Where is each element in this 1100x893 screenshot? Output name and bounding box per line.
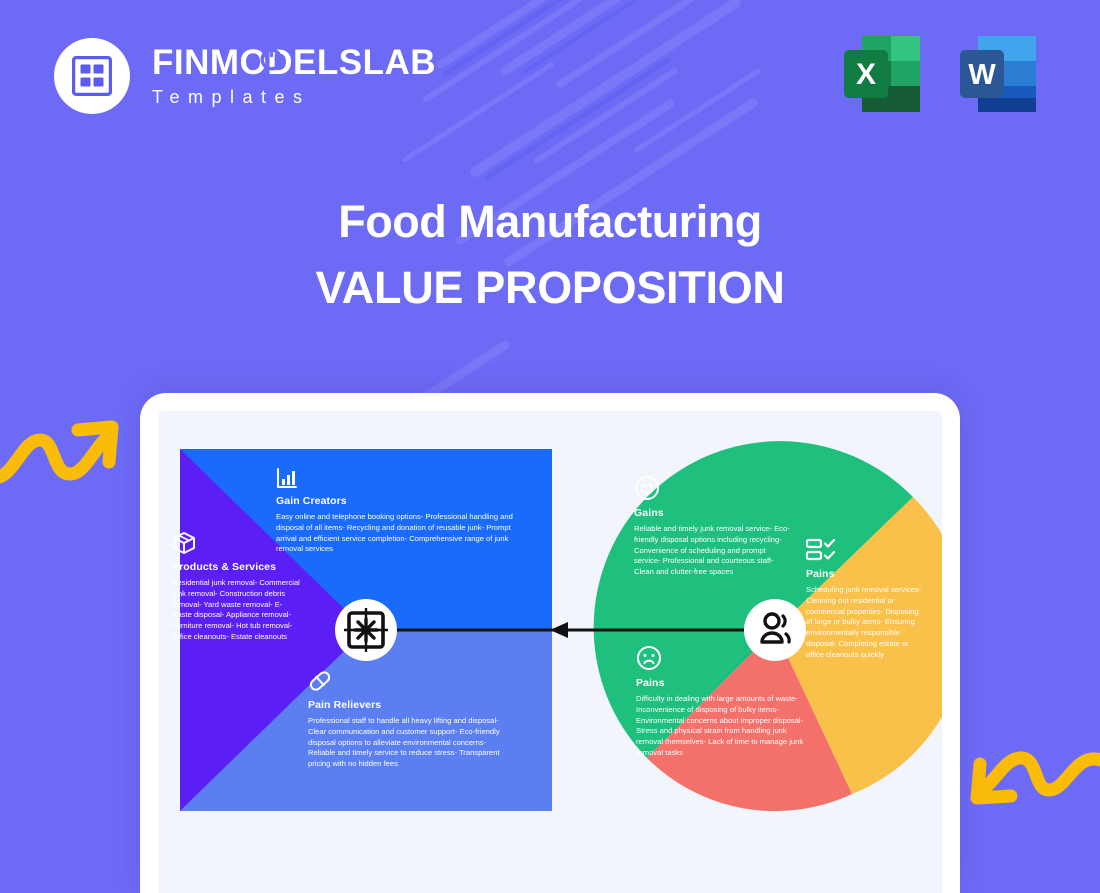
- segment-body: Professional staff to handle all heavy l…: [308, 716, 504, 770]
- segment-heading: Pains: [636, 677, 808, 689]
- segment-heading: Gain Creators: [276, 495, 516, 507]
- svg-text:X: X: [856, 58, 876, 91]
- title-line-1: Food Manufacturing: [0, 196, 1100, 248]
- segment-body: Scheduling junk removal services- Cleani…: [806, 585, 926, 660]
- checklist-icon: [806, 538, 836, 562]
- page-header: FINMODELSLAB Templates X: [0, 0, 1100, 150]
- logo-title: FINMODELSLAB: [152, 45, 436, 80]
- logo-power-ring-icon: [259, 46, 284, 71]
- segment-body: Reliable and timely junk removal service…: [634, 524, 794, 578]
- squiggle-arrow-down-left-icon: [955, 748, 1100, 842]
- device-screen: Gain Creators Easy online and telephone …: [158, 411, 942, 893]
- segment-pains[interactable]: Pains Difficulty in dealing with large a…: [636, 645, 808, 759]
- pill-icon: [308, 669, 332, 693]
- page-title: Food Manufacturing VALUE PROPOSITION: [0, 196, 1100, 314]
- box-icon: [172, 531, 196, 555]
- device-frame: Gain Creators Easy online and telephone …: [140, 393, 960, 893]
- segment-customer-jobs[interactable]: Pains Scheduling junk removal services- …: [806, 538, 926, 660]
- title-line-2: VALUE PROPOSITION: [0, 262, 1100, 314]
- squiggle-arrow-up-right-icon: [0, 400, 122, 495]
- grid-squares-icon: [72, 56, 112, 96]
- smiley-sad-icon: [636, 645, 662, 671]
- smiley-happy-icon: [634, 475, 660, 501]
- svg-text:W: W: [968, 59, 996, 91]
- word-icon[interactable]: W: [952, 28, 1044, 120]
- logo-title-text: FINMODELSLAB: [152, 43, 436, 82]
- segment-body: Difficulty in dealing with large amounts…: [636, 694, 808, 759]
- segment-heading: Gains: [634, 507, 794, 519]
- segment-gains[interactable]: Gains Reliable and timely junk removal s…: [634, 475, 794, 578]
- logo-text: FINMODELSLAB Templates: [152, 45, 436, 108]
- value-map-center-badge[interactable]: [335, 599, 397, 661]
- logo-circle: [54, 38, 130, 114]
- segment-body: Residential junk removal- Commercial jun…: [172, 578, 300, 643]
- excel-icon[interactable]: X: [836, 28, 928, 120]
- segment-body: Easy online and telephone booking option…: [276, 512, 516, 555]
- segment-pain-relievers[interactable]: Pain Relievers Professional staff to han…: [308, 669, 504, 770]
- logo-subtitle: Templates: [152, 87, 436, 108]
- bar-chart-icon: [276, 467, 298, 489]
- burst-square-icon: [344, 608, 388, 652]
- segment-heading: Products & Services: [172, 561, 300, 573]
- segment-products-services[interactable]: Products & Services Residential junk rem…: [172, 531, 300, 643]
- segment-heading: Pains: [806, 568, 926, 580]
- segment-gain-creators[interactable]: Gain Creators Easy online and telephone …: [276, 467, 516, 555]
- segment-heading: Pain Relievers: [308, 699, 504, 711]
- brand-logo[interactable]: FINMODELSLAB Templates: [54, 38, 436, 114]
- office-app-icons: X W: [836, 28, 1044, 120]
